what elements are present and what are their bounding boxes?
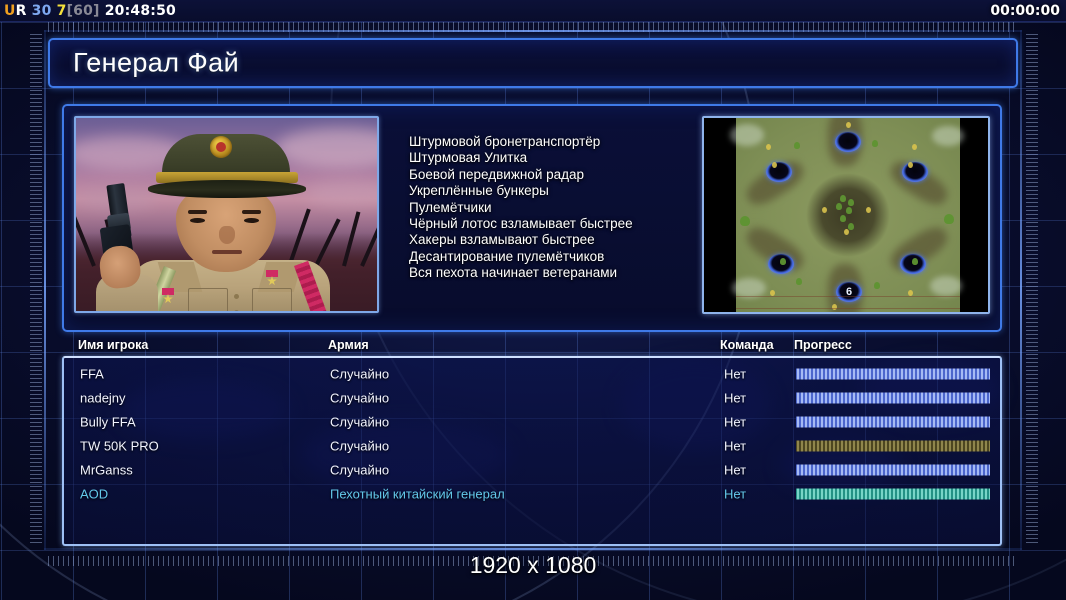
tree-icon bbox=[780, 258, 786, 265]
player-progress-bar bbox=[796, 441, 990, 452]
player-list-headers: Имя игрока Армия Команда Прогресс bbox=[62, 338, 1002, 356]
map-snow-patch bbox=[930, 276, 962, 296]
ruler-right bbox=[1026, 34, 1038, 546]
hud-r-label: R bbox=[16, 3, 27, 19]
tree-icon bbox=[836, 203, 842, 210]
portrait-button bbox=[234, 294, 239, 299]
header-progress: Прогресс bbox=[794, 338, 852, 352]
hud-match-timer: 00:00:00 bbox=[990, 0, 1060, 22]
gold-icon bbox=[866, 207, 871, 213]
map-preview[interactable]: 6 bbox=[702, 116, 990, 314]
medal-icon bbox=[160, 288, 176, 306]
map-snow-patch bbox=[730, 124, 764, 146]
player-name: TW 50K PRO bbox=[80, 439, 159, 454]
player-team[interactable]: Нет bbox=[724, 463, 746, 478]
portrait-pocket bbox=[188, 288, 228, 313]
map-spawn-point bbox=[902, 162, 928, 182]
gold-icon bbox=[908, 162, 913, 168]
frame-line-top bbox=[44, 30, 1022, 32]
player-army[interactable]: Случайно bbox=[330, 415, 389, 430]
tree-icon bbox=[846, 207, 852, 214]
player-name: FFA bbox=[80, 367, 104, 382]
tree-icon bbox=[848, 223, 854, 230]
hud-u-label: U bbox=[4, 3, 16, 19]
portrait-pocket bbox=[252, 288, 292, 313]
frame-line-bottom bbox=[44, 548, 1022, 550]
map-scanline bbox=[736, 308, 960, 309]
table-row[interactable]: Bully FFA Случайно Нет bbox=[64, 410, 1000, 434]
general-info-panel: Штурмовой бронетранспортёр Штурмовая Ули… bbox=[62, 104, 1002, 332]
tree-icon bbox=[912, 258, 918, 265]
tree-icon bbox=[944, 214, 954, 224]
tree-icon bbox=[840, 195, 846, 202]
player-team[interactable]: Нет bbox=[724, 415, 746, 430]
page-title: Генерал Фай bbox=[73, 48, 239, 79]
frame-line-right bbox=[1020, 30, 1022, 550]
table-row[interactable]: TW 50K PRO Случайно Нет bbox=[64, 434, 1000, 458]
ability-item: Боевой передвижной радар bbox=[409, 167, 699, 183]
tree-icon bbox=[740, 216, 750, 226]
player-army[interactable]: Пехотный китайский генерал bbox=[330, 487, 505, 502]
map-snow-patch bbox=[732, 278, 766, 298]
player-army[interactable]: Случайно bbox=[330, 391, 389, 406]
player-list-panel: FFA Случайно Нет nadejny Случайно Нет Bu… bbox=[62, 356, 1002, 546]
player-name: Bully FFA bbox=[80, 415, 136, 430]
player-progress-bar bbox=[796, 489, 990, 500]
gold-icon bbox=[766, 144, 771, 150]
ability-item: Штурмовая Улитка bbox=[409, 150, 699, 166]
tree-icon bbox=[796, 278, 802, 285]
ability-item: Вся пехота начинает ветеранами bbox=[409, 265, 699, 281]
tree-icon bbox=[874, 282, 880, 289]
hud-fps-cap: [60] bbox=[67, 3, 100, 19]
player-team[interactable]: Нет bbox=[724, 439, 746, 454]
tree-icon bbox=[872, 140, 878, 147]
gold-icon bbox=[832, 304, 837, 310]
map-spawn-label bbox=[835, 132, 861, 152]
map-scanline bbox=[736, 296, 960, 297]
portrait-brow bbox=[188, 210, 207, 214]
map-spawn-point bbox=[835, 132, 861, 152]
general-abilities-list: Штурмовой бронетранспортёр Штурмовая Ули… bbox=[409, 134, 699, 282]
player-team[interactable]: Нет bbox=[724, 367, 746, 382]
map-spawn-label bbox=[902, 162, 928, 182]
gold-icon bbox=[822, 207, 827, 213]
medal-icon bbox=[264, 270, 280, 288]
ability-item: Пулемётчики bbox=[409, 200, 699, 216]
portrait-brow bbox=[242, 210, 261, 214]
hud-ping: 30 bbox=[32, 3, 52, 19]
map-spawn-point bbox=[766, 162, 792, 182]
player-team[interactable]: Нет bbox=[724, 487, 746, 502]
portrait-hat-badge bbox=[210, 136, 232, 158]
ruler-left bbox=[30, 34, 42, 546]
tree-icon bbox=[794, 142, 800, 149]
player-progress-bar bbox=[796, 369, 990, 380]
portrait-eye bbox=[244, 218, 259, 223]
portrait-nose bbox=[219, 226, 235, 244]
ability-item: Укреплённые бункеры bbox=[409, 183, 699, 199]
ability-item: Десантирование пулемётчиков bbox=[409, 249, 699, 265]
player-army[interactable]: Случайно bbox=[330, 439, 389, 454]
player-team[interactable]: Нет bbox=[724, 391, 746, 406]
ability-item: Хакеры взламывают быстрее bbox=[409, 232, 699, 248]
table-row[interactable]: nadejny Случайно Нет bbox=[64, 386, 1000, 410]
map-spawn-label: 6 bbox=[836, 282, 862, 302]
player-name: AOD bbox=[80, 487, 108, 502]
map-center-resources bbox=[822, 193, 874, 237]
tree-icon bbox=[848, 199, 854, 206]
ability-item: Чёрный лотос взламывает быстрее bbox=[409, 216, 699, 232]
hud-clock: 20:48:50 bbox=[105, 3, 176, 19]
general-portrait bbox=[74, 116, 379, 313]
gold-icon bbox=[912, 144, 917, 150]
portrait-eye bbox=[190, 218, 205, 223]
gold-icon bbox=[846, 122, 851, 128]
header-army: Армия bbox=[328, 338, 369, 352]
ability-item: Штурмовой бронетранспортёр bbox=[409, 134, 699, 150]
map-spawn-label bbox=[766, 162, 792, 182]
player-army[interactable]: Случайно bbox=[330, 367, 389, 382]
gold-icon bbox=[844, 229, 849, 235]
map-terrain: 6 bbox=[736, 118, 960, 312]
hud-stats: UR 30 7[60] 20:48:50 bbox=[4, 0, 176, 22]
map-snow-patch bbox=[932, 126, 964, 146]
resolution-label: 1920 x 1080 bbox=[0, 552, 1066, 579]
table-row[interactable]: AOD Пехотный китайский генерал Нет bbox=[64, 482, 1000, 506]
hud-fps: 7 bbox=[57, 3, 67, 19]
player-army[interactable]: Случайно bbox=[330, 463, 389, 478]
table-row[interactable]: FFA Случайно Нет bbox=[64, 362, 1000, 386]
map-spawn-point: 6 bbox=[836, 282, 862, 302]
player-name: nadejny bbox=[80, 391, 126, 406]
table-row[interactable]: MrGanss Случайно Нет bbox=[64, 458, 1000, 482]
portrait-hat-brim bbox=[148, 180, 306, 198]
portrait-mouth bbox=[212, 250, 242, 254]
player-progress-bar bbox=[796, 417, 990, 428]
player-progress-bar bbox=[796, 465, 990, 476]
general-title-panel: Генерал Фай bbox=[48, 38, 1018, 88]
header-team: Команда bbox=[720, 338, 774, 352]
player-progress-bar bbox=[796, 393, 990, 404]
hud-bar: UR 30 7[60] 20:48:50 00:00:00 bbox=[0, 0, 1066, 22]
gold-icon bbox=[772, 162, 777, 168]
header-player-name: Имя игрока bbox=[78, 338, 148, 352]
portrait-button bbox=[234, 310, 239, 313]
tree-icon bbox=[840, 215, 846, 222]
game-lobby-screen: UR 30 7[60] 20:48:50 00:00:00 Генерал Фа… bbox=[0, 0, 1066, 600]
frame-line-left bbox=[44, 30, 46, 550]
player-name: MrGanss bbox=[80, 463, 133, 478]
